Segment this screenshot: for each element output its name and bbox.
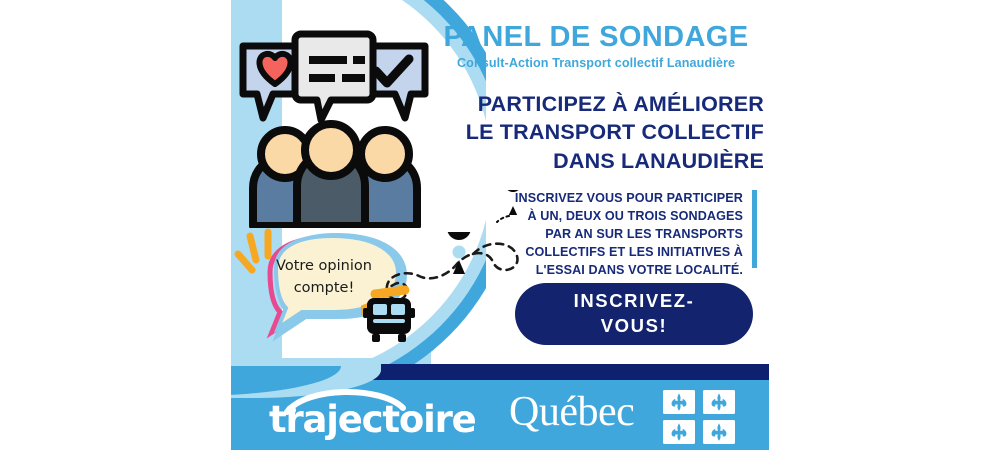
trajectoire-logo[interactable]: trajectoire xyxy=(261,386,481,442)
fleur-de-lis-icon xyxy=(672,393,727,440)
speech-bubble-icons-group xyxy=(239,18,429,123)
quebec-logo[interactable]: Québec xyxy=(509,386,739,442)
map-pin-icon xyxy=(447,232,471,274)
message-lines-bubble-icon xyxy=(295,34,373,120)
body-line-3: PAR AN SUR LES TRANSPORTS xyxy=(493,225,743,243)
body-copy: INSCRIVEZ VOUS POUR PARTICIPER À UN, DEU… xyxy=(493,189,743,279)
bus-icon xyxy=(363,298,415,342)
trajectoire-logo-text: trajectoire xyxy=(269,398,476,441)
accent-divider xyxy=(752,190,757,268)
headline: PARTICIPEZ À AMÉLIORER LE TRANSPORT COLL… xyxy=(431,90,764,175)
headline-line-1: PARTICIPEZ À AMÉLIORER xyxy=(431,90,764,118)
poster-canvas: Votre opinion compte! xyxy=(231,0,769,450)
body-line-5: L'ESSAI DANS VOTRE LOCALITÉ. xyxy=(493,261,743,279)
quebec-logo-text: Québec xyxy=(509,388,634,436)
body-line-1: INSCRIVEZ VOUS POUR PARTICIPER xyxy=(493,189,743,207)
page-subtitle: Consult-Action Transport collectif Lanau… xyxy=(426,56,766,70)
body-line-2: À UN, DEUX OU TROIS SONDAGES xyxy=(493,207,743,225)
people-group-icon xyxy=(235,118,435,228)
page-title: PANEL DE SONDAGE xyxy=(426,22,766,52)
quebec-flag-icon xyxy=(663,390,737,444)
person-center-icon xyxy=(297,124,365,226)
headline-line-3: DANS LANAUDIÈRE xyxy=(431,147,764,175)
signup-button-label: INSCRIVEZ- VOUS! xyxy=(574,289,695,339)
headline-line-2: LE TRANSPORT COLLECTIF xyxy=(431,118,764,146)
body-line-4: COLLECTIFS ET LES INITIATIVES À xyxy=(493,243,743,261)
signup-button[interactable]: INSCRIVEZ- VOUS! xyxy=(515,283,753,345)
